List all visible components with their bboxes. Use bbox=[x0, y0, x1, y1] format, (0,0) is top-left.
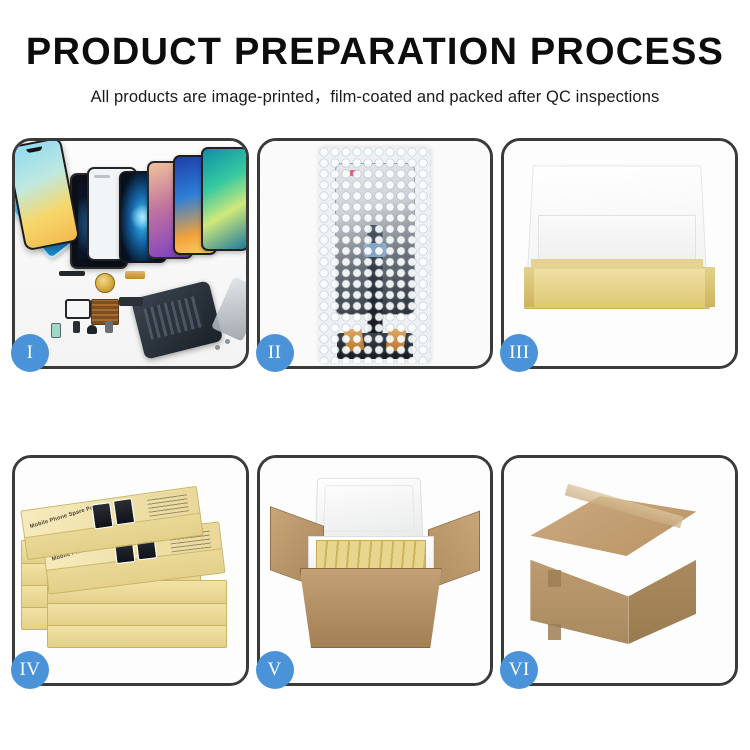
gold-connector-part bbox=[125, 271, 145, 279]
small-part-4 bbox=[51, 323, 61, 338]
carton-body bbox=[300, 568, 442, 648]
small-part-1 bbox=[73, 321, 80, 333]
vibration-coil-part bbox=[95, 273, 115, 293]
carton-handle-tab-lower bbox=[548, 624, 561, 640]
tray-side-left bbox=[524, 267, 534, 307]
stacked-box-right-2 bbox=[47, 602, 227, 626]
stacked-box-right-1 bbox=[47, 624, 227, 648]
panel-5-numeral-badge: V bbox=[256, 651, 294, 689]
tray-side-right bbox=[705, 267, 715, 307]
phone-front-yellow-wallpaper bbox=[15, 141, 81, 251]
panel-3-numeral-badge: III bbox=[500, 334, 538, 372]
box-screen-graphic-d bbox=[113, 498, 135, 525]
bubble-wrap-bag bbox=[319, 147, 431, 363]
process-panel-grid: I II III bbox=[12, 138, 738, 686]
screw-2 bbox=[225, 339, 230, 344]
bubble-texture-overlay bbox=[319, 147, 431, 363]
page-subtitle: All products are image-printed，film-coat… bbox=[0, 83, 750, 107]
process-panel-5[interactable]: V bbox=[257, 455, 494, 686]
screw-1 bbox=[215, 345, 220, 350]
process-panel-4[interactable]: Mobile Phone Spare Parts Mobile Phone Sp… bbox=[12, 455, 249, 686]
panel-3-image bbox=[504, 141, 735, 366]
panel-2-image bbox=[260, 141, 491, 366]
panel-1-image bbox=[15, 141, 246, 366]
panel-1-numeral-badge: I bbox=[11, 334, 49, 372]
process-panel-3[interactable]: III bbox=[501, 138, 738, 369]
camera-module-part bbox=[119, 297, 143, 306]
small-part-3 bbox=[105, 321, 113, 333]
process-panel-1[interactable]: I bbox=[12, 138, 249, 369]
carton-side-face bbox=[628, 536, 696, 644]
flex-cable-part bbox=[65, 299, 91, 319]
page-header: PRODUCT PREPARATION PROCESS All products… bbox=[0, 0, 750, 107]
phone-back-housing bbox=[131, 280, 224, 360]
panel-5-image bbox=[260, 458, 491, 683]
page-title: PRODUCT PREPARATION PROCESS bbox=[0, 30, 750, 74]
panel-6-image bbox=[504, 458, 735, 683]
box-screen-graphic-c bbox=[91, 502, 113, 529]
earpiece-mesh-part bbox=[59, 271, 85, 276]
panel-2-numeral-badge: II bbox=[256, 334, 294, 372]
phone-teal-wallpaper bbox=[201, 147, 246, 251]
panel-4-numeral-badge: IV bbox=[11, 651, 49, 689]
process-panel-6[interactable]: VI bbox=[501, 455, 738, 686]
panel-6-numeral-badge: VI bbox=[500, 651, 538, 689]
small-part-2 bbox=[87, 325, 97, 334]
yellow-tray-base bbox=[524, 267, 710, 309]
foam-lid-open bbox=[314, 478, 423, 540]
panel-4-image: Mobile Phone Spare Parts Mobile Phone Sp… bbox=[15, 458, 246, 683]
process-panel-2[interactable]: II bbox=[257, 138, 494, 369]
carton-handle-tab-upper bbox=[548, 570, 561, 587]
box-stack: Mobile Phone Spare Parts Mobile Phone Sp… bbox=[21, 474, 233, 674]
